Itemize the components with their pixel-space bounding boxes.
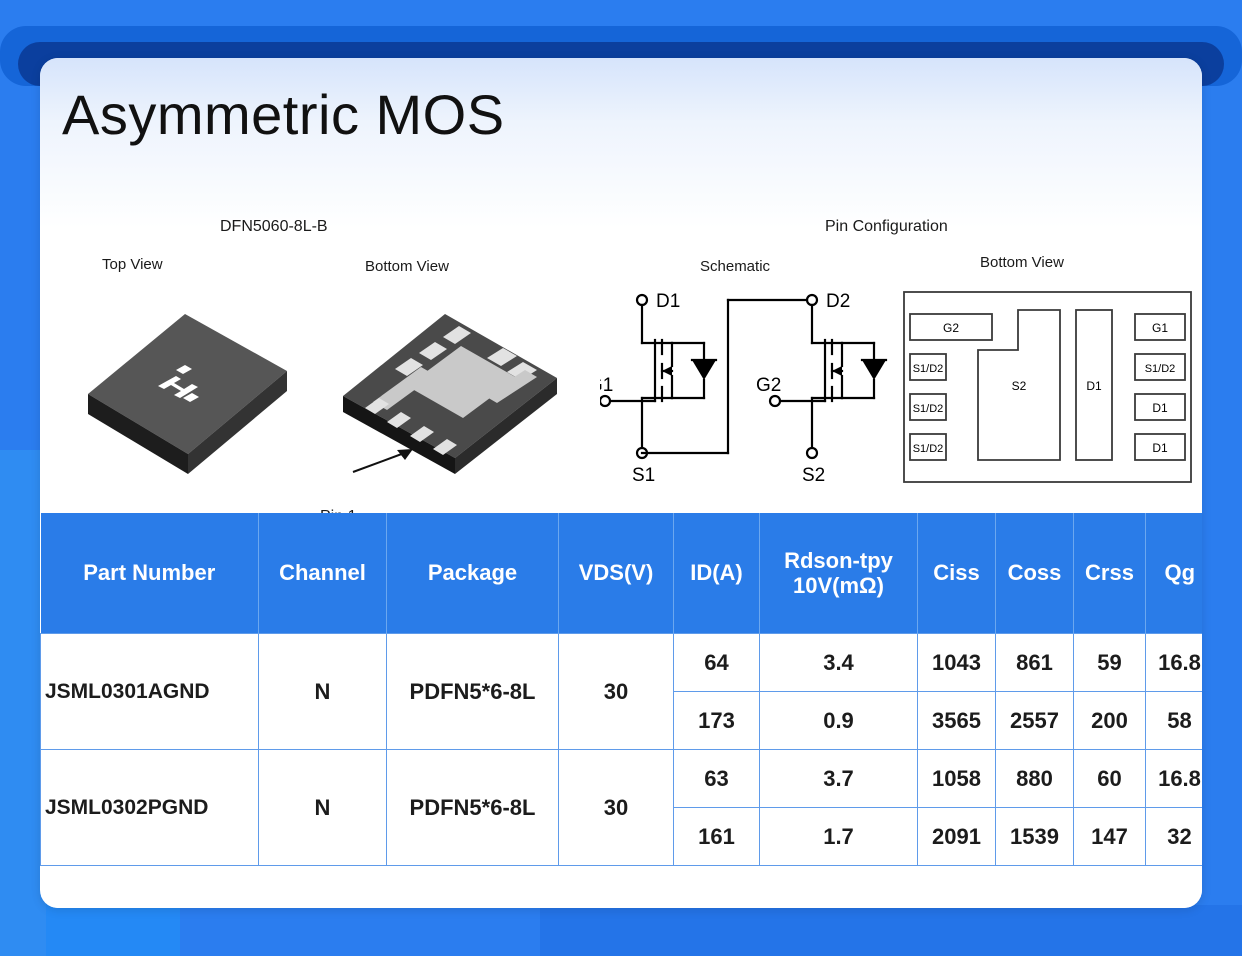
cell-crss: 60 (1074, 750, 1146, 808)
header-crss[interactable]: Crss (1074, 513, 1146, 634)
cell-coss: 880 (996, 750, 1074, 808)
cell-rdson: 3.4 (760, 634, 918, 692)
table-filler-row (41, 866, 1203, 909)
spec-table: Part Number Channel Package VDS(V) ID(A)… (40, 513, 1202, 908)
pin-bottom-view-label: Bottom View (980, 254, 1064, 271)
cell-qg: 16.8 (1146, 750, 1203, 808)
cell-channel: N (259, 634, 387, 750)
header-vds[interactable]: VDS(V) (559, 513, 674, 634)
background-bottom-right (540, 905, 1242, 956)
header-package[interactable]: Package (387, 513, 559, 634)
schematic-node-g2: G2 (756, 375, 781, 396)
schematic-image: D1 D2 G1 G2 S1 S2 (600, 288, 890, 488)
pad-label-g1: G1 (1152, 321, 1168, 335)
page-title: Asymmetric MOS (62, 82, 505, 147)
header-ciss[interactable]: Ciss (918, 513, 996, 634)
table-row[interactable]: JSML0302PGND N PDFN5*6-8L 30 63 3.7 1058… (41, 750, 1203, 808)
schematic-node-s1: S1 (632, 465, 655, 486)
header-rdson[interactable]: Rdson-tpy 10V(mΩ) (760, 513, 918, 634)
cell-id: 63 (674, 750, 760, 808)
cell-vds: 30 (559, 750, 674, 866)
package-bottom-view-image (335, 286, 565, 486)
pad-label-right-d1-1: D1 (1152, 401, 1168, 415)
cell-package: PDFN5*6-8L (387, 634, 559, 750)
bottom-view-label: Bottom View (365, 258, 449, 275)
pad-label-center-d1: D1 (1086, 379, 1102, 393)
schematic-label: Schematic (700, 258, 770, 275)
cell-qg: 16.8 (1146, 634, 1203, 692)
schematic-node-d2: D2 (826, 291, 850, 312)
pad-label-left-s1d2-3: S1/D2 (913, 443, 944, 455)
cell-ciss: 1043 (918, 634, 996, 692)
cell-qg: 32 (1146, 808, 1203, 866)
cell-crss: 59 (1074, 634, 1146, 692)
cell-crss: 200 (1074, 692, 1146, 750)
cell-package: PDFN5*6-8L (387, 750, 559, 866)
schematic-node-g1: G1 (600, 375, 613, 396)
table-filler-cell (41, 866, 1203, 909)
cell-id: 64 (674, 634, 760, 692)
header-id[interactable]: ID(A) (674, 513, 760, 634)
header-part-number[interactable]: Part Number (41, 513, 259, 634)
header-coss[interactable]: Coss (996, 513, 1074, 634)
pad-label-left-s1d2-1: S1/D2 (913, 363, 944, 375)
cell-rdson: 1.7 (760, 808, 918, 866)
pin-configuration-label: Pin Configuration (825, 218, 948, 236)
cell-channel: N (259, 750, 387, 866)
cell-vds: 30 (559, 634, 674, 750)
cell-coss: 2557 (996, 692, 1074, 750)
cell-ciss: 1058 (918, 750, 996, 808)
cell-id: 161 (674, 808, 760, 866)
pad-label-right-d1-2: D1 (1152, 441, 1168, 455)
cell-part-number: JSML0302PGND (41, 750, 259, 866)
package-code-label: DFN5060-8L-B (220, 218, 328, 236)
cell-qg: 58 (1146, 692, 1203, 750)
cell-id: 173 (674, 692, 760, 750)
pad-label-g2: G2 (943, 321, 959, 335)
cell-crss: 147 (1074, 808, 1146, 866)
package-top-view-image (80, 286, 295, 476)
cell-coss: 1539 (996, 808, 1074, 866)
header-channel[interactable]: Channel (259, 513, 387, 634)
table-header-row: Part Number Channel Package VDS(V) ID(A)… (41, 513, 1203, 634)
top-view-label: Top View (102, 256, 163, 273)
cell-rdson: 0.9 (760, 692, 918, 750)
pad-label-left-s1d2-2: S1/D2 (913, 403, 944, 415)
header-qg[interactable]: Qg (1146, 513, 1203, 634)
header-rdson-line2: 10V(mΩ) (764, 573, 913, 598)
cell-coss: 861 (996, 634, 1074, 692)
cell-rdson: 3.7 (760, 750, 918, 808)
schematic-node-s2: S2 (802, 465, 825, 486)
content-card: Asymmetric MOS DFN5060-8L-B Top View Bot… (40, 58, 1202, 908)
pad-label-right-s1d2: S1/D2 (1145, 363, 1176, 375)
pad-label-s2: S2 (1012, 379, 1027, 393)
cell-ciss: 2091 (918, 808, 996, 866)
cell-ciss: 3565 (918, 692, 996, 750)
schematic-node-d1: D1 (656, 291, 680, 312)
diagram-area: DFN5060-8L-B Top View Bottom View Schema… (40, 198, 1202, 513)
header-rdson-line1: Rdson-tpy (764, 548, 913, 573)
table-row[interactable]: JSML0301AGND N PDFN5*6-8L 30 64 3.4 1043… (41, 634, 1203, 692)
pin-configuration-image: G2 S1/D2 S1/D2 S1/D2 G1 S1/D2 D1 D1 S2 D… (900, 288, 1195, 488)
cell-part-number: JSML0301AGND (41, 634, 259, 750)
